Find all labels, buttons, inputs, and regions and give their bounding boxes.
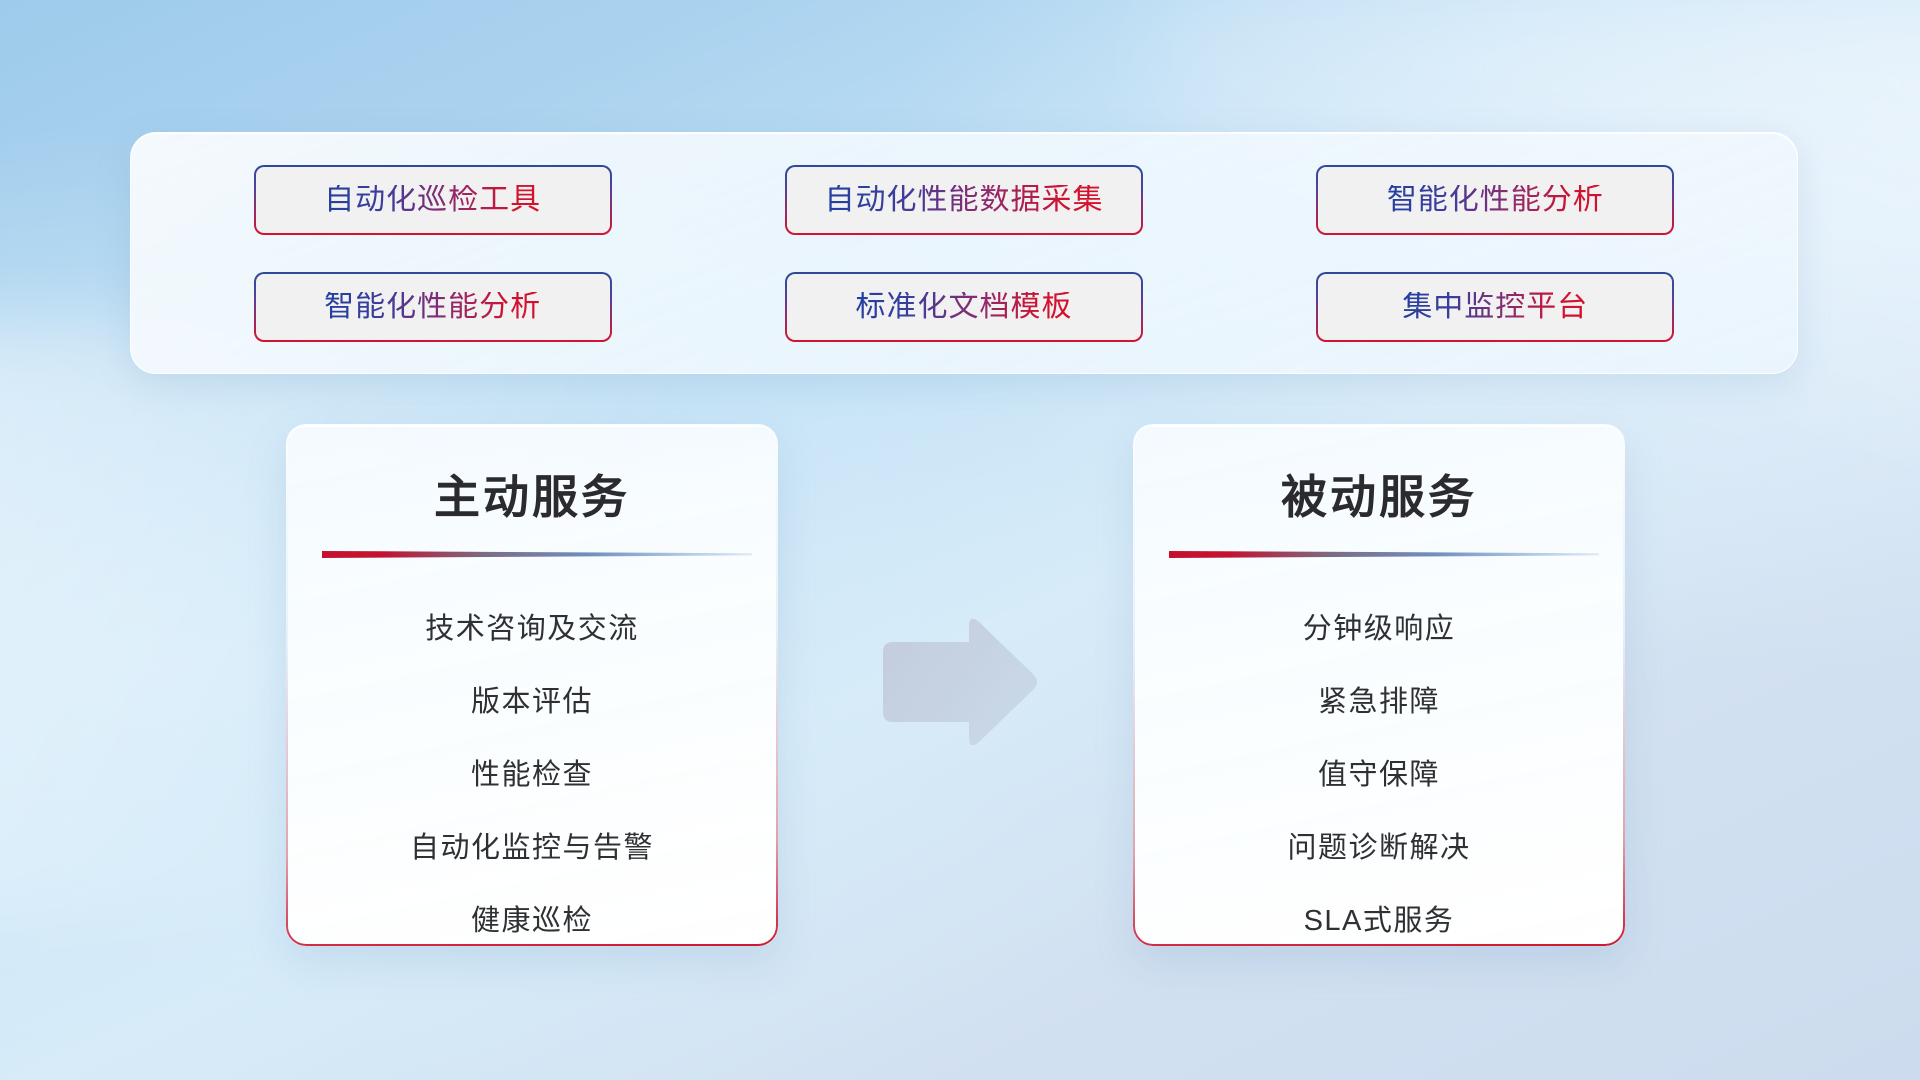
card-divider-rule [322, 549, 752, 559]
list-item: 健康巡检 [322, 885, 742, 958]
flow-arrow-right-icon [873, 612, 1041, 752]
capability-tag-label: 自动化巡检工具 [324, 185, 541, 215]
capability-tag-1[interactable]: 自动化巡检工具 [254, 165, 612, 235]
list-item: SLA式服务 [1169, 885, 1589, 958]
card-title: 被动服务 [1169, 472, 1589, 523]
list-item: 问题诊断解决 [1169, 812, 1589, 885]
diagram-canvas: 自动化巡检工具 自动化性能数据采集 智能化性能分析 智能化性能分析 标准化文档模… [0, 0, 1920, 1080]
card-divider-rule [1169, 549, 1599, 559]
service-card-active: 主动服务 技术咨询及交流 版本评估 性能检查 [286, 424, 778, 946]
capability-tag-label: 标准化文档模板 [855, 292, 1072, 322]
capability-tag-2[interactable]: 自动化性能数据采集 [785, 165, 1143, 235]
list-item: 性能检查 [322, 739, 742, 812]
card-item-list: 分钟级响应 紧急排障 值守保障 问题诊断解决 SLA式服务 [1169, 593, 1589, 958]
capability-tag-label: 智能化性能分析 [1387, 185, 1604, 215]
list-item: 自动化监控与告警 [322, 812, 742, 885]
capability-panel: 自动化巡检工具 自动化性能数据采集 智能化性能分析 智能化性能分析 标准化文档模… [130, 132, 1798, 374]
list-item: 分钟级响应 [1169, 593, 1589, 666]
list-item: 技术咨询及交流 [322, 593, 742, 666]
capability-tag-label: 集中监控平台 [1402, 292, 1588, 322]
list-item: 值守保障 [1169, 739, 1589, 812]
capability-tag-label: 智能化性能分析 [324, 292, 541, 322]
list-item: 紧急排障 [1169, 666, 1589, 739]
capability-tag-3[interactable]: 智能化性能分析 [1316, 165, 1674, 235]
service-card-passive: 被动服务 分钟级响应 紧急排障 值守保障 [1133, 424, 1625, 946]
capability-tag-6[interactable]: 集中监控平台 [1316, 272, 1674, 342]
card-item-list: 技术咨询及交流 版本评估 性能检查 自动化监控与告警 健康巡检 [322, 593, 742, 958]
capability-tag-label: 自动化性能数据采集 [824, 185, 1103, 215]
list-item: 版本评估 [322, 666, 742, 739]
card-title: 主动服务 [322, 472, 742, 523]
capability-tag-5[interactable]: 标准化文档模板 [785, 272, 1143, 342]
capability-tag-4[interactable]: 智能化性能分析 [254, 272, 612, 342]
